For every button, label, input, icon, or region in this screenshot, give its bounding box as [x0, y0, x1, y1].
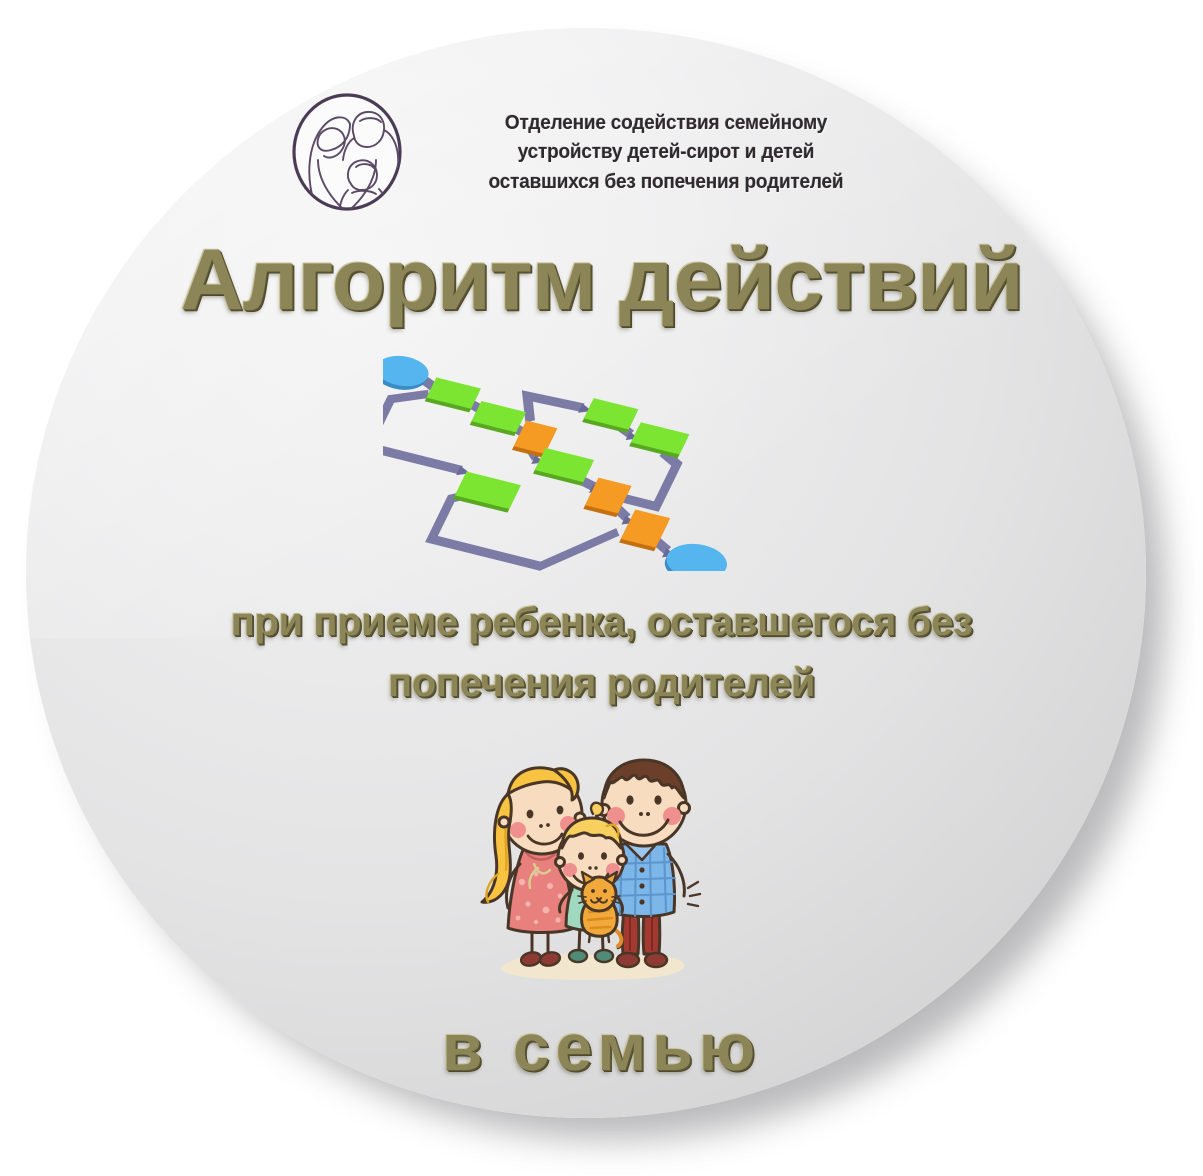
family-silhouette-logo [288, 90, 406, 214]
header: Отделение содействия семейному устройств… [288, 84, 908, 220]
page-title: Алгоритм действий [0, 237, 1203, 323]
organization-name-line-1: Отделение содействия семейному [441, 108, 891, 137]
poster-root: Отделение содействия семейному устройств… [0, 0, 1203, 1176]
page-subtitle-line-1: при приеме ребенка, оставшегося без [150, 592, 1053, 653]
organization-name: Отделение содействия семейному устройств… [441, 108, 891, 195]
organization-name-line-2: устройству детей-сирот и детей [441, 137, 891, 166]
cartoon-family-illustration [462, 752, 720, 996]
page-subtitle-line-2: попечения родителей [150, 653, 1053, 714]
page-subtitle: при приеме ребенка, оставшегося без попе… [150, 592, 1053, 714]
isometric-flowchart-illustration [383, 339, 795, 571]
bottom-word: в семью [0, 1014, 1203, 1080]
organization-name-line-3: оставшихся без попечения родителей [441, 167, 891, 196]
